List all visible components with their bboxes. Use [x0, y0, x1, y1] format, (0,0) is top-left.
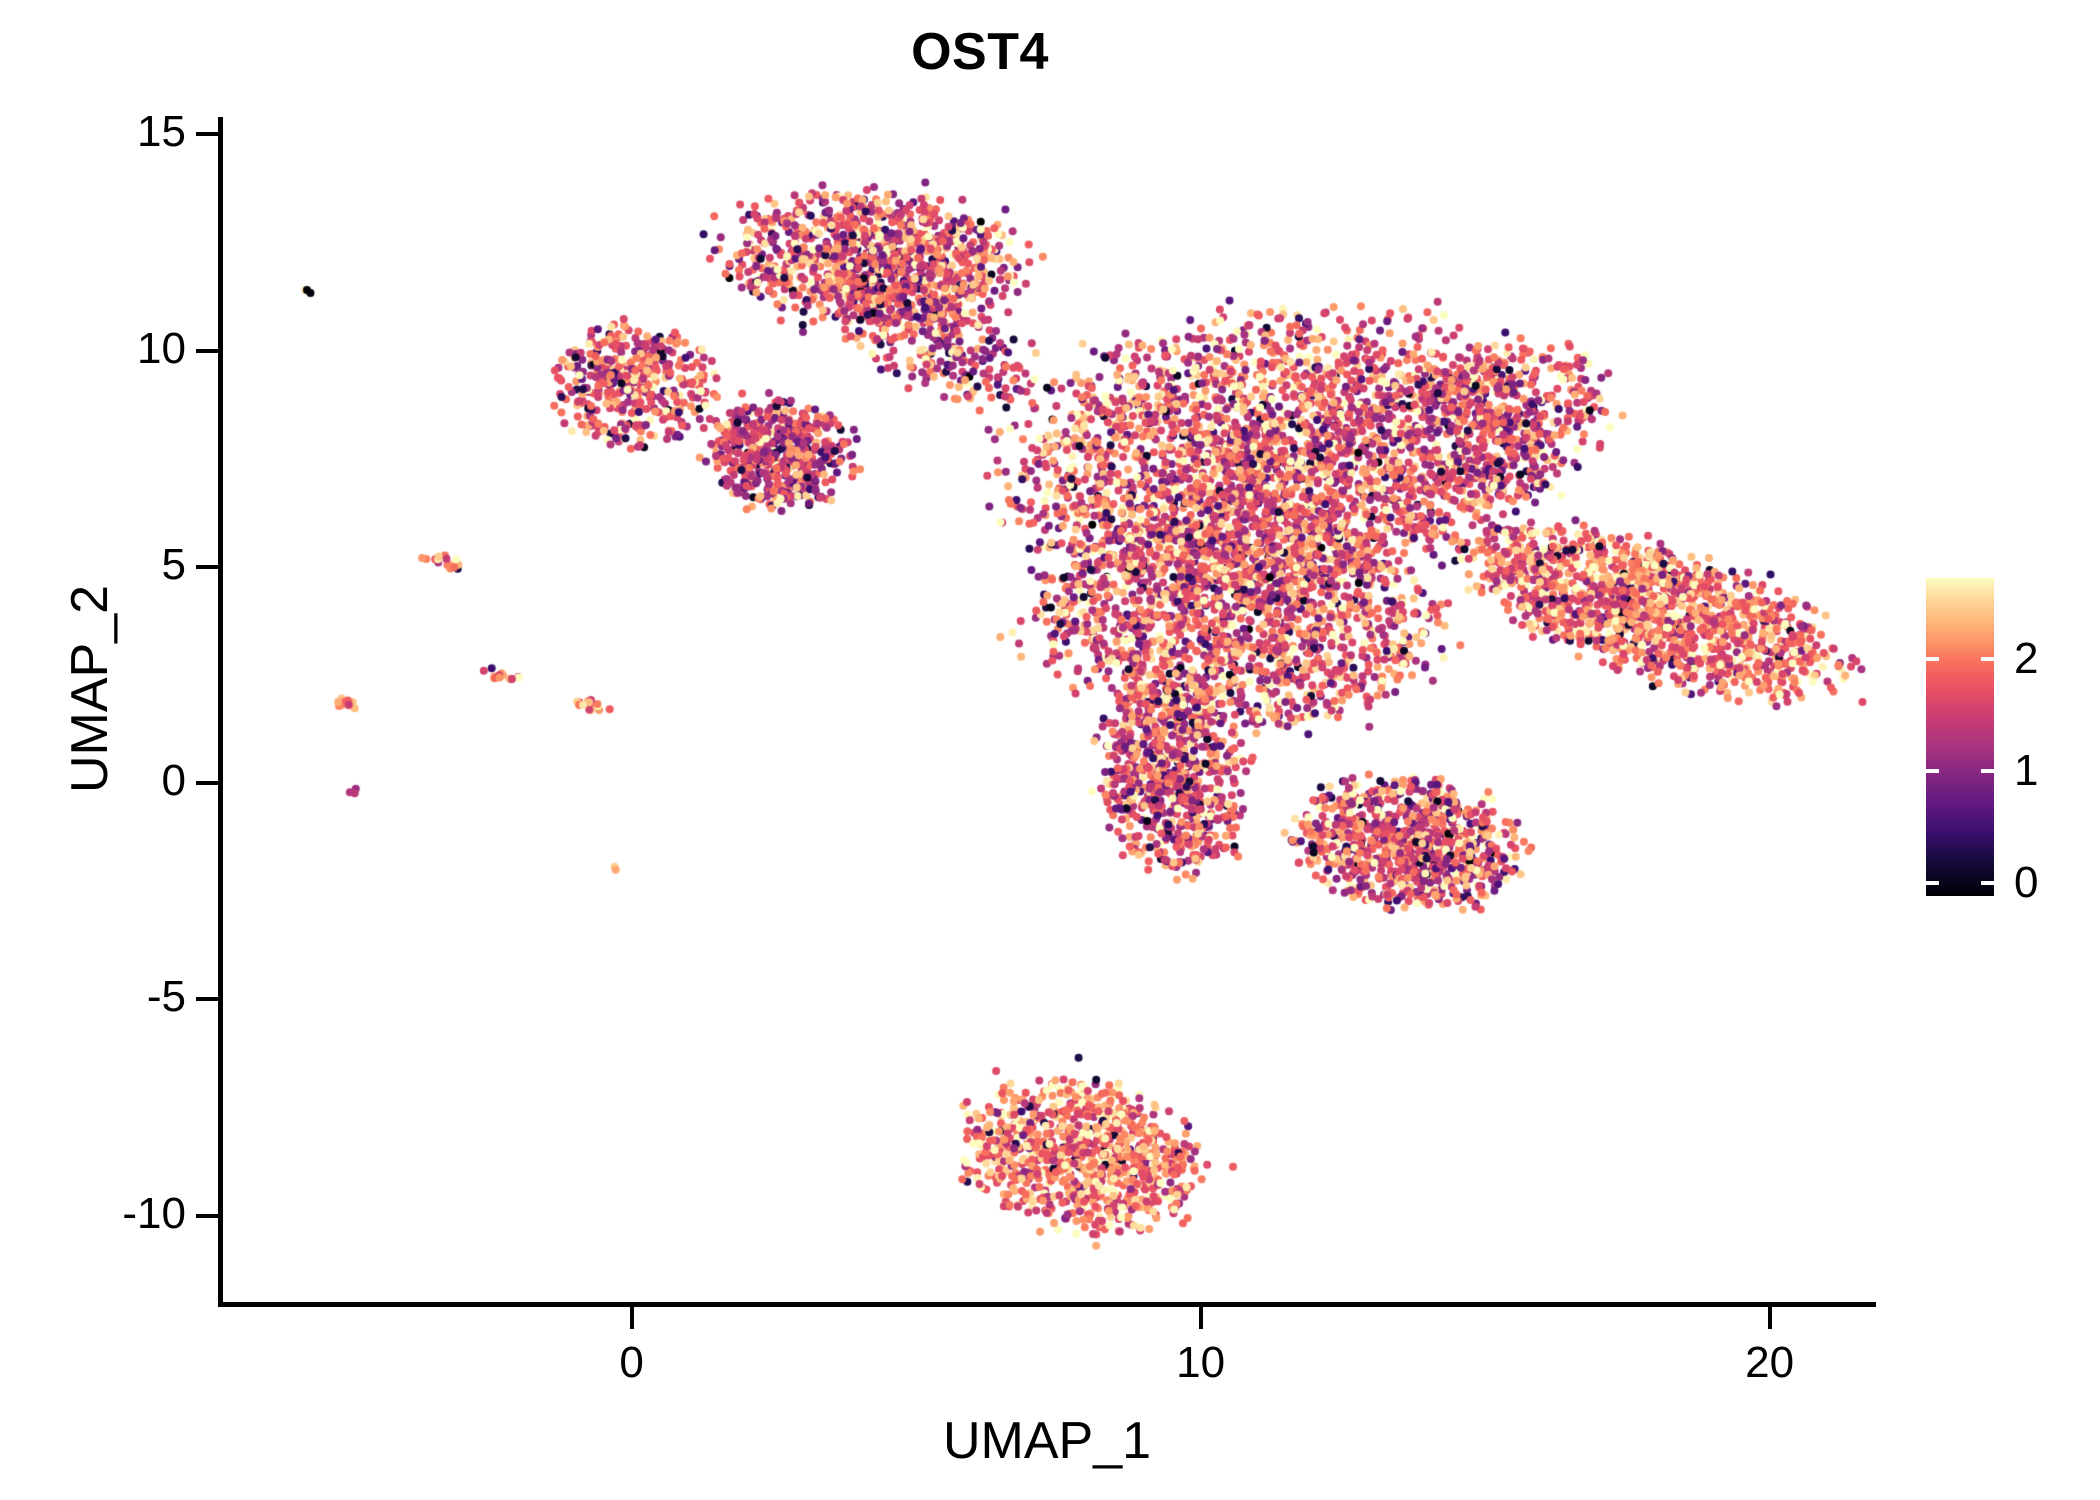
y-tick-label: 10 — [137, 327, 186, 371]
colorbar-tick-mark — [1981, 881, 1994, 885]
y-tick-mark — [196, 997, 218, 1001]
x-tick-label: 0 — [572, 1340, 692, 1386]
y-axis-title: UMAP_2 — [61, 339, 119, 1039]
y-tick-label: -5 — [147, 975, 186, 1019]
x-tick-label: 10 — [1141, 1340, 1261, 1386]
page-title: OST4 — [0, 22, 1960, 82]
y-tick-mark — [196, 781, 218, 785]
y-tick-mark — [196, 565, 218, 569]
x-tick-mark — [630, 1307, 634, 1329]
x-tick-mark — [1768, 1307, 1772, 1329]
colorbar-tick-label: 1 — [2014, 749, 2038, 793]
colorbar-tick-label: 0 — [2014, 861, 2038, 905]
y-axis-line — [218, 117, 223, 1307]
x-tick-label: 20 — [1710, 1340, 1830, 1386]
colorbar-tick-mark — [1926, 881, 1939, 885]
y-tick-label: 15 — [137, 110, 186, 154]
colorbar-legend[interactable]: 210 — [1926, 578, 2086, 898]
y-tick-mark — [196, 349, 218, 353]
x-axis-line — [218, 1302, 1876, 1307]
colorbar-gradient — [1926, 578, 1994, 896]
y-tick-mark — [196, 1214, 218, 1218]
scatter-plot-canvas[interactable] — [222, 117, 1872, 1302]
plot-panel[interactable] — [222, 117, 1872, 1302]
colorbar-tick-mark — [1926, 769, 1939, 773]
y-tick-label: 5 — [162, 543, 186, 587]
colorbar-tick-mark — [1926, 657, 1939, 661]
y-tick-label: -10 — [122, 1192, 186, 1236]
x-tick-mark — [1199, 1307, 1203, 1329]
colorbar-tick-label: 2 — [2014, 637, 2038, 681]
colorbar-tick-mark — [1981, 769, 1994, 773]
plot-root: OST4 -10-5051015 01020 UMAP_1 UMAP_2 210 — [0, 0, 2100, 1500]
y-tick-mark — [196, 132, 218, 136]
y-tick-label: 0 — [162, 759, 186, 803]
colorbar-tick-mark — [1981, 657, 1994, 661]
x-axis-title: UMAP_1 — [222, 1412, 1872, 1470]
